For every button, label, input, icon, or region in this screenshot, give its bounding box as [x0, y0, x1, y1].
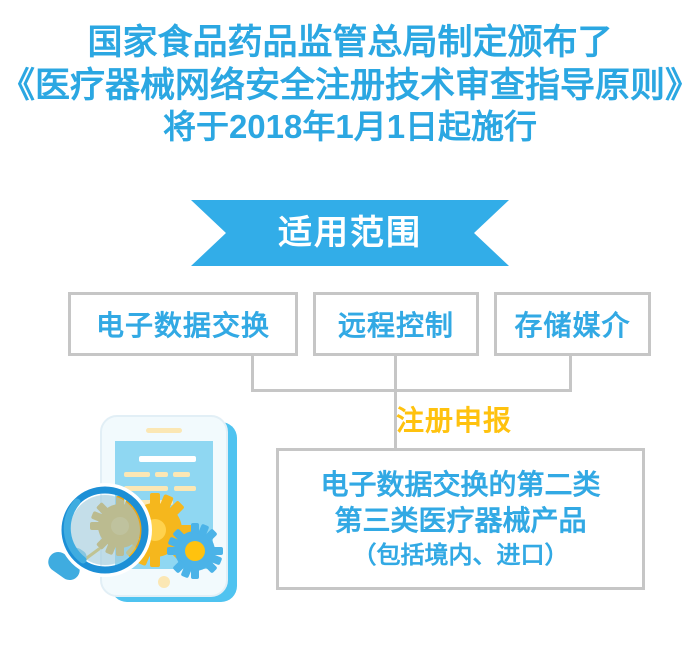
scope-banner: 适用范围	[191, 200, 509, 266]
screen-text-line	[124, 486, 168, 491]
blue-gear-icon	[167, 523, 223, 579]
result-line-3: （包括境内、进口）	[353, 540, 569, 571]
connector-stub-box3	[569, 356, 572, 389]
category-label: 电子数据交换	[96, 304, 270, 344]
result-line-1: 电子数据交换的第二类	[320, 467, 600, 503]
screen-text-line	[124, 472, 150, 477]
magnifier-lens-icon	[63, 488, 147, 572]
connector-stub-box1	[251, 356, 254, 389]
tablet-gears-magnifier-illustration	[35, 408, 255, 613]
category-label: 远程控制	[338, 304, 454, 344]
register-application-label: 注册申报	[396, 399, 512, 439]
title-line-3: 将于2018年1月1日起施行	[0, 107, 700, 147]
connector-stub-box2	[394, 356, 397, 389]
category-box-electronic-data-exchange: 电子数据交换	[68, 292, 298, 356]
scope-banner-label: 适用范围	[278, 216, 422, 250]
category-label: 存储媒介	[514, 304, 630, 344]
screen-text-line	[173, 472, 190, 477]
category-box-storage-media: 存储媒介	[494, 292, 651, 356]
tablet-home-button-icon	[158, 576, 170, 588]
title-line-2: 《医疗器械网络安全注册技术审查指导原则》	[0, 65, 700, 108]
title-line-1: 国家食品药品监管总局制定颁布了	[0, 22, 700, 65]
tablet-speaker-icon	[146, 428, 182, 433]
screen-text-line	[174, 486, 196, 491]
connector-horizontal-bus	[251, 389, 572, 392]
category-box-remote-control: 远程控制	[313, 292, 479, 356]
screen-text-line	[155, 472, 168, 477]
result-box-device-products: 电子数据交换的第二类 第三类医疗器械产品 （包括境内、进口）	[276, 448, 645, 590]
screen-title-line	[139, 456, 196, 462]
result-line-2: 第三类医疗器械产品	[334, 503, 586, 539]
infographic-canvas: 国家食品药品监管总局制定颁布了 《医疗器械网络安全注册技术审查指导原则》 将于2…	[0, 0, 700, 662]
page-title: 国家食品药品监管总局制定颁布了 《医疗器械网络安全注册技术审查指导原则》 将于2…	[0, 22, 700, 148]
